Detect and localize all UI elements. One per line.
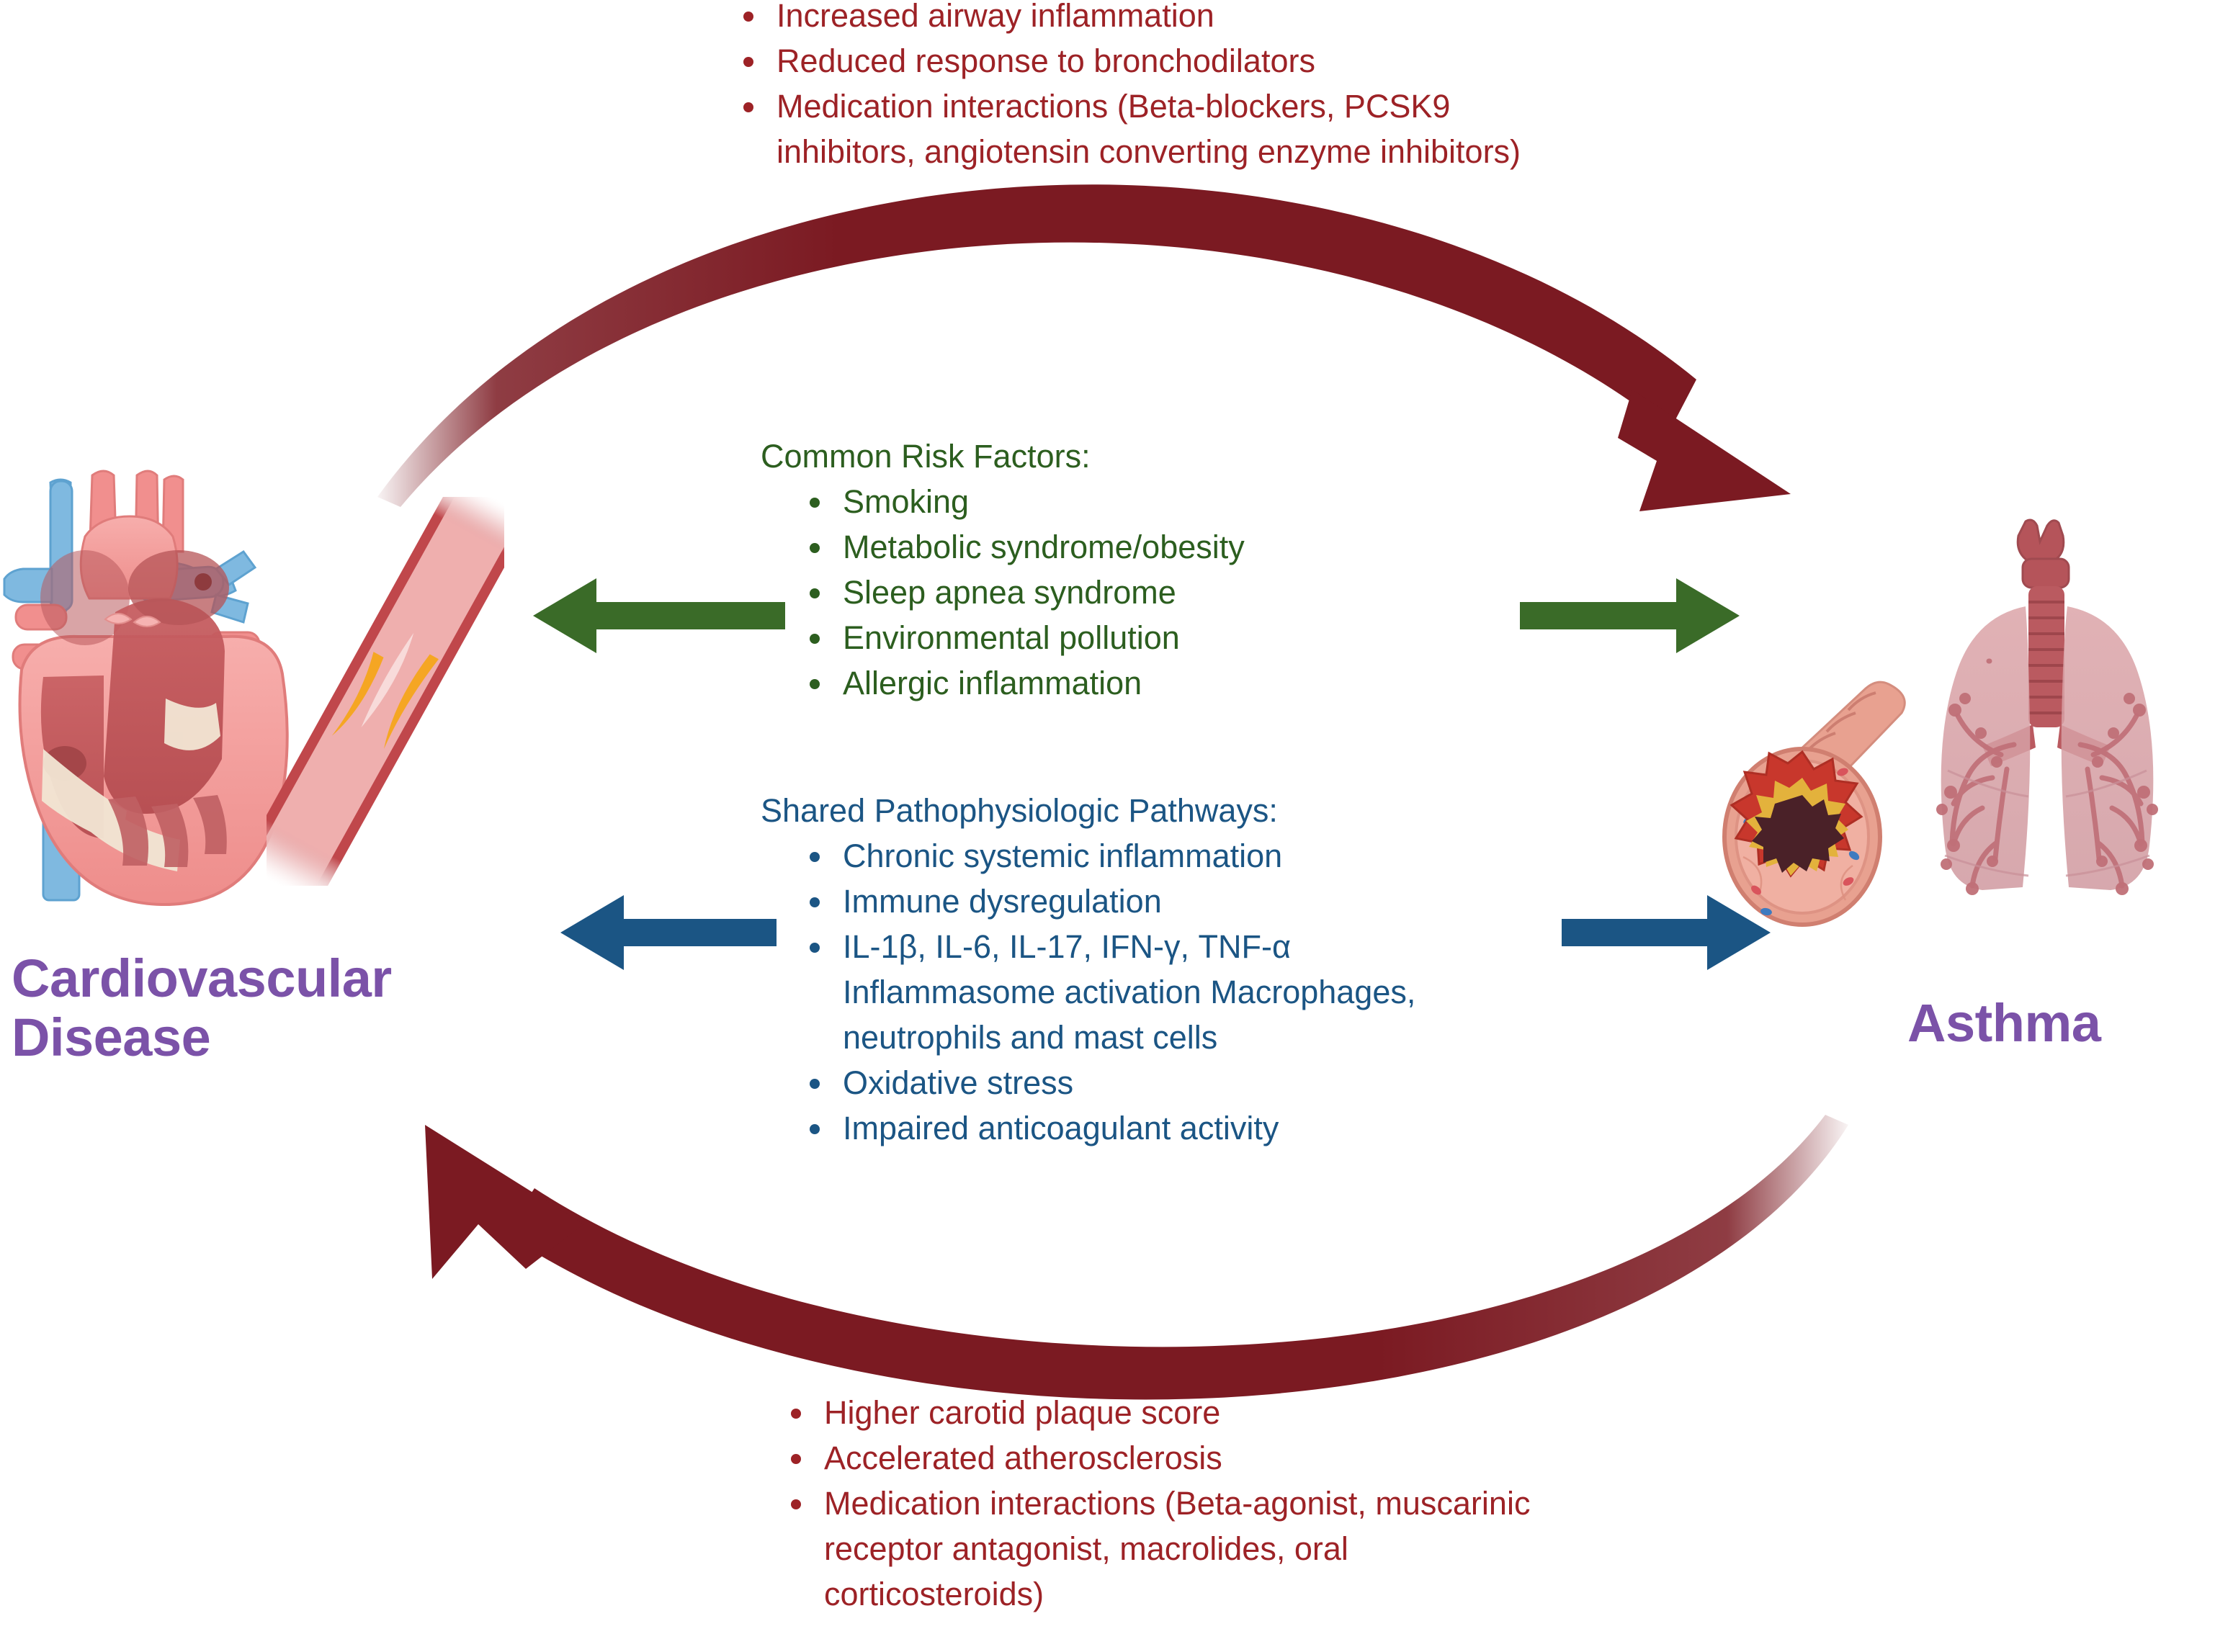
risk-factors-block: Common Risk Factors: Smoking Metabolic s… [761, 434, 1481, 706]
bullet-icon [810, 498, 820, 508]
bullet-icon [743, 57, 753, 67]
pathways-list: Chronic systemic inflammation Immune dys… [761, 833, 1488, 1151]
list-item: Metabolic syndrome/obesity [802, 524, 1481, 570]
lungs-illustration [1873, 517, 2215, 949]
risk-factors-list: Smoking Metabolic syndrome/obesity Sleep… [761, 479, 1481, 706]
list-item: IL-1β, IL-6, IL-17, IFN-γ, TNF-α Inflamm… [802, 924, 1419, 1060]
larynx [2018, 520, 2069, 588]
bullet-icon [810, 588, 820, 598]
pathway-arrow-right [1562, 893, 1771, 972]
arrow-shaft [622, 919, 777, 946]
lungs-svg [1873, 517, 2215, 949]
top-effects-list: Increased airway inflammation Reduced re… [736, 0, 1572, 174]
list-item: Impaired anticoagulant activity [802, 1105, 1488, 1151]
arrow-head [1676, 578, 1740, 653]
list-item: Medication interactions (Beta-blockers, … [736, 84, 1572, 174]
arrow-shaft [595, 602, 785, 629]
bullet-icon [791, 1409, 801, 1419]
pathways-block: Shared Pathophysiologic Pathways: Chroni… [761, 788, 1488, 1151]
artery-svg [267, 497, 504, 886]
list-item: Higher carotid plaque score [784, 1390, 1569, 1435]
artery-plaque-illustration [267, 497, 504, 886]
list-item: Reduced response to bronchodilators [736, 38, 1572, 84]
list-item: Medication interactions (Beta-agonist, m… [784, 1481, 1569, 1617]
bullet-icon [810, 1124, 820, 1134]
arrow-shaft [1520, 602, 1678, 629]
list-item: Immune dysregulation [802, 879, 1488, 924]
bottom-curved-arrow [425, 1115, 1848, 1399]
bullet-icon [810, 897, 820, 907]
top-effects-block: Increased airway inflammation Reduced re… [736, 0, 1572, 174]
arrow-shaft [1562, 919, 1709, 946]
risk-arrow-right [1520, 576, 1740, 655]
list-item: Oxidative stress [802, 1060, 1488, 1105]
pathway-arrow-left [560, 893, 777, 972]
risk-factors-header: Common Risk Factors: [761, 434, 1481, 479]
list-item: Smoking [802, 479, 1481, 524]
bottom-effects-block: Higher carotid plaque score Accelerated … [784, 1390, 1569, 1617]
list-item: Increased airway inflammation [736, 0, 1572, 38]
left-node-label: Cardiovascular Disease [12, 949, 487, 1067]
artery-vessel [267, 497, 504, 886]
list-item: Chronic systemic inflammation [802, 833, 1488, 879]
bullet-icon [810, 679, 820, 689]
pathways-header: Shared Pathophysiologic Pathways: [761, 788, 1488, 833]
list-item: Accelerated atherosclerosis [784, 1435, 1569, 1481]
list-item: Sleep apnea syndrome [802, 570, 1481, 615]
bullet-icon [791, 1499, 801, 1509]
left-node-label-line2: Disease [12, 1008, 487, 1067]
bullet-icon [810, 852, 820, 862]
list-item: Environmental pollution [802, 615, 1481, 660]
bullet-icon [791, 1454, 801, 1464]
bottom-effects-list: Higher carotid plaque score Accelerated … [784, 1390, 1569, 1617]
bullet-icon [810, 943, 820, 953]
bullet-icon [743, 102, 753, 112]
list-item: Allergic inflammation [802, 660, 1481, 706]
bullet-icon [810, 543, 820, 553]
diagram-root: { "diagram": { "title": "Bidirectional r… [0, 0, 2215, 1652]
risk-arrow-left [533, 576, 785, 655]
arrow-head [533, 578, 596, 653]
arrow-head [1707, 895, 1771, 970]
bullet-icon [810, 1079, 820, 1089]
left-node-label-line1: Cardiovascular [12, 949, 487, 1008]
arrow-head [560, 895, 624, 970]
bullet-icon [743, 12, 753, 22]
bullet-icon [810, 634, 820, 644]
right-node-label: Asthma [1907, 994, 2210, 1053]
